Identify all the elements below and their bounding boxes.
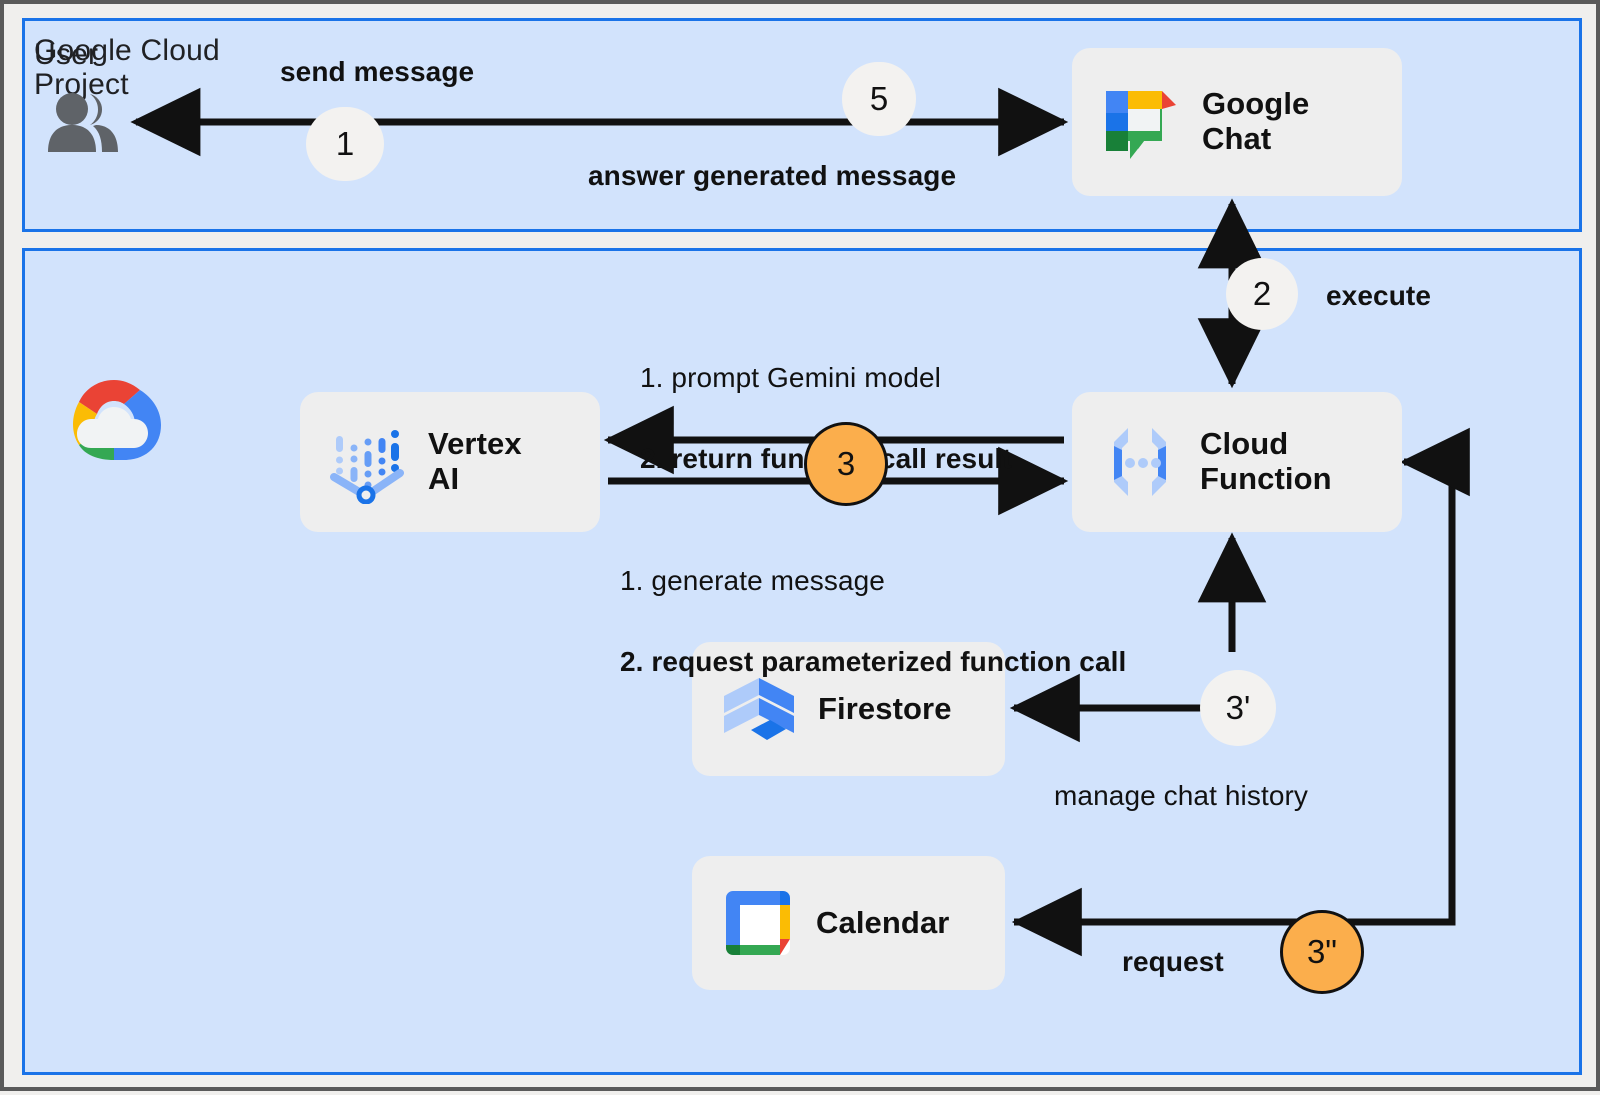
step-marker-3-double-prime[interactable]: 3" [1280,910,1364,994]
label-request: request [1122,942,1224,983]
node-calendar[interactable]: Calendar [692,856,1005,990]
node-vertex-ai[interactable]: Vertex AI [300,392,600,532]
vertex-ai-icon [326,420,410,504]
node-vertex-ai-label: Vertex AI [428,427,522,496]
label-send-message: send message [280,52,474,93]
label-answer-generated-message: answer generated message [588,156,956,197]
label-request-parameterized-function-call: 2. request parameterized function call [620,642,1126,683]
node-google-chat[interactable]: Google Chat [1072,48,1402,196]
node-cloud-function-label: Cloud Function [1200,427,1332,496]
label-manage-chat-history: manage chat history [1054,776,1308,817]
diagram-canvas: User Google Cloud Project [0,0,1600,1091]
label-vertex-to-cloudfunction: 1. generate message 2. request parameter… [620,520,1126,723]
cloud-function-icon [1098,420,1182,504]
google-calendar-icon [718,883,798,963]
google-chat-icon [1098,79,1184,165]
node-google-chat-label: Google Chat [1202,87,1309,156]
step-marker-3[interactable]: 3 [804,422,888,506]
step-marker-5[interactable]: 5 [842,62,916,136]
node-calendar-label: Calendar [816,906,949,941]
step-marker-3-prime[interactable]: 3' [1200,670,1276,746]
node-cloud-function[interactable]: Cloud Function [1072,392,1402,532]
google-cloud-logo-icon [62,376,166,462]
step-marker-1[interactable]: 1 [306,107,384,181]
label-generate-message: 1. generate message [620,561,1126,602]
label-prompt-gemini-model: 1. prompt Gemini model [640,358,1012,399]
label-execute: execute [1326,276,1431,317]
user-people-icon [46,92,124,154]
step-marker-2[interactable]: 2 [1226,258,1298,330]
